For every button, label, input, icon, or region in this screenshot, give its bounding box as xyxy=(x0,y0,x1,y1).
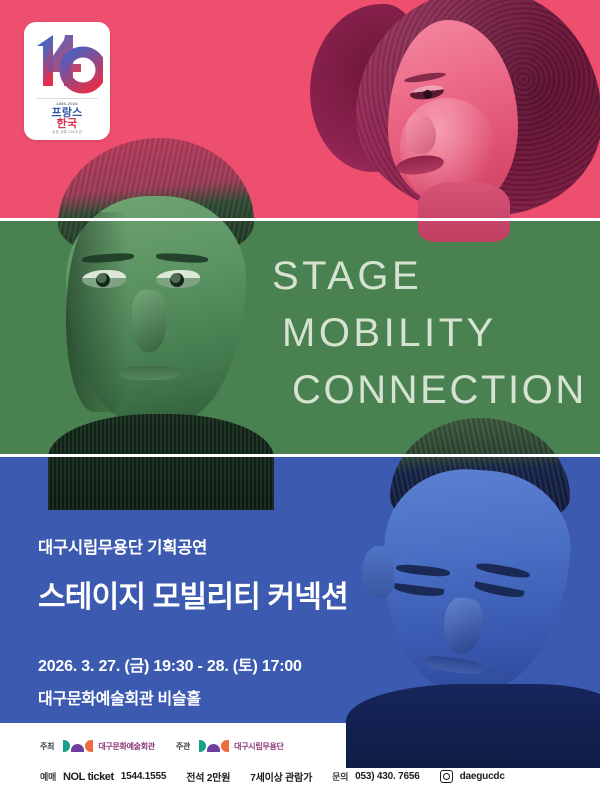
performance-title: 스테이지 모빌리티 커넥션 xyxy=(38,572,348,616)
neck xyxy=(418,182,510,242)
headline-line-stage: STAGE xyxy=(272,248,587,305)
numeral-140-icon xyxy=(31,30,103,94)
english-headline: STAGE MOBILITY CONNECTION xyxy=(272,248,587,419)
instagram-icon[interactable] xyxy=(440,770,453,783)
inquiry-label: 문의 xyxy=(332,770,348,783)
france-korea-140-anniversary-logo: 1886-2026 프랑스 한국 상호 교류 140주년 xyxy=(24,22,110,140)
headline-line-connection: CONNECTION xyxy=(292,362,587,419)
logo-korea-label: 한국 xyxy=(24,119,110,130)
performance-venue: 대구문화예술회관 비슬홀 xyxy=(38,685,302,709)
daegu-arts-center-logo-icon xyxy=(63,740,93,752)
ticket-price: 전석 2만원 xyxy=(186,769,230,784)
shoulder xyxy=(346,684,600,768)
turtleneck-garment xyxy=(48,414,274,510)
portrait-woman-pink xyxy=(300,0,600,222)
company-kicker: 대구시립무용단 기획공연 xyxy=(38,534,348,558)
daegu-city-dance-company-logo-icon xyxy=(199,740,229,752)
inquiry-phone[interactable]: 053) 430. 7656 xyxy=(355,771,419,782)
nose xyxy=(132,290,166,352)
organizer-org-name: 대구시립무용단 xyxy=(234,741,283,752)
performance-date: 2026. 3. 27. (금) 19:30 - 28. (토) 17:00 xyxy=(38,652,302,676)
face-shadow xyxy=(66,212,128,412)
host-label: 주최 xyxy=(40,741,54,752)
booking-phone[interactable]: 1544.1555 xyxy=(121,771,166,782)
credits-row: 주최 대구문화예술회관 주관 대구시립무용단 xyxy=(40,740,284,752)
nose xyxy=(406,114,436,154)
portrait-man-blue xyxy=(352,418,600,730)
age-rating: 7세이상 관람가 xyxy=(250,769,312,784)
schedule-block: 2026. 3. 27. (금) 19:30 - 28. (토) 17:00 대… xyxy=(38,652,302,709)
instagram-handle[interactable]: daegucdc xyxy=(460,771,505,782)
eye-left xyxy=(82,270,126,288)
logo-divider xyxy=(36,98,98,99)
portrait-man-green xyxy=(24,138,292,458)
headline-line-mobility: MOBILITY xyxy=(282,305,587,362)
performance-heading-block: 대구시립무용단 기획공연 스테이지 모빌리티 커넥션 xyxy=(38,534,348,616)
lips xyxy=(120,366,180,380)
ear xyxy=(362,546,394,598)
booking-label: 예매 xyxy=(40,770,56,783)
band-divider-bottom xyxy=(0,454,600,457)
host-org: 대구문화예술회관 xyxy=(63,740,154,752)
logo-country-names: 프랑스 한국 xyxy=(24,108,110,130)
organizer-label: 주관 xyxy=(176,741,190,752)
host-org-name: 대구문화예술회관 xyxy=(98,741,154,752)
band-divider-top xyxy=(0,218,600,221)
organizer-org: 대구시립무용단 xyxy=(199,740,283,752)
booking-info-row: 예매 NOL ticket 1544.1555 전석 2만원 7세이상 관람가 … xyxy=(40,769,505,784)
logo-years: 1886-2026 xyxy=(24,101,110,106)
booking-brand[interactable]: NOL ticket xyxy=(63,771,114,783)
eye-right xyxy=(156,270,200,288)
logo-subtitle: 상호 교류 140주년 xyxy=(24,130,110,135)
poster-canvas: 1886-2026 프랑스 한국 상호 교류 140주년 STAGE MOBIL… xyxy=(0,0,600,800)
